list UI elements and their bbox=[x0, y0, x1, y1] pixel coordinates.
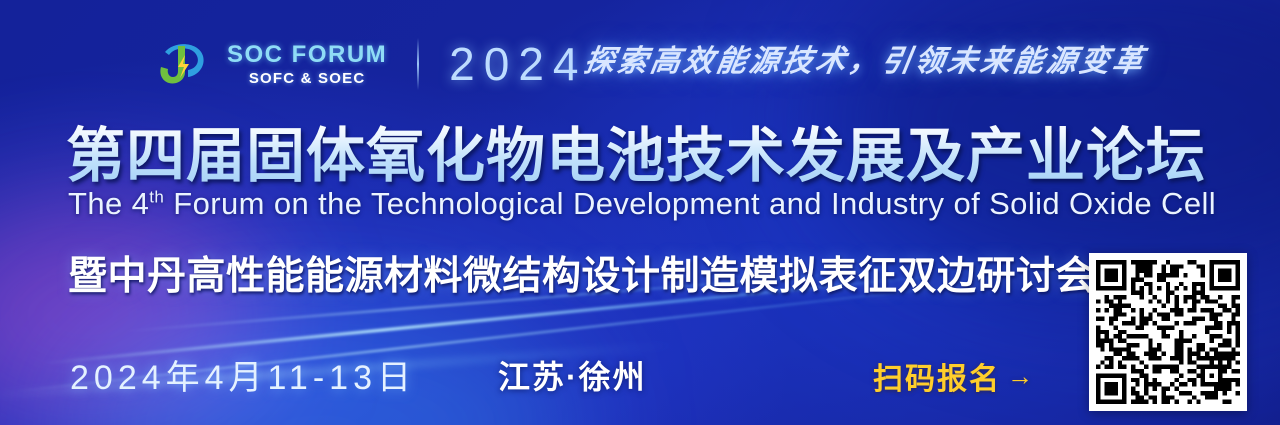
calligraphy-slogan: 探索高效能源技术，引领未来能源变革 bbox=[582, 36, 1150, 80]
scan-cta-label: 扫码报名 bbox=[873, 354, 1001, 398]
title-en-prefix: The 4 bbox=[68, 186, 149, 221]
brand-name-primary: SOC FORUM bbox=[227, 43, 387, 67]
qr-code-icon[interactable] bbox=[1089, 253, 1247, 411]
brand-name-secondary: SOFC & SOEC bbox=[227, 71, 387, 86]
edition-year: 2024 bbox=[449, 37, 587, 91]
arrow-right-icon: → bbox=[1007, 363, 1035, 389]
title-en-ordinal: th bbox=[149, 188, 164, 207]
title-en-rest: Forum on the Technological Development a… bbox=[164, 186, 1216, 221]
banner-header: SOC FORUM SOFC & SOEC 2024 bbox=[155, 36, 588, 92]
event-date: 2024年4月11-13日 bbox=[70, 350, 416, 399]
header-divider bbox=[417, 38, 419, 90]
brand-wordmark: SOC FORUM SOFC & SOEC bbox=[227, 43, 387, 86]
page-subtitle: 暨中丹高性能能源材料微结构设计制造模拟表征双边研讨会 bbox=[68, 245, 1095, 301]
soc-forum-logo-icon bbox=[155, 36, 211, 92]
page-title-english: The 4th Forum on the Technological Devel… bbox=[68, 186, 1216, 222]
scan-to-register-cta[interactable]: 扫码报名 → bbox=[873, 354, 1035, 398]
conference-banner: SOC FORUM SOFC & SOEC 2024 探索高效能源技术，引领未来… bbox=[0, 0, 1280, 425]
page-title: 第四届固体氧化物电池技术发展及产业论坛 bbox=[66, 108, 1206, 193]
event-location: 江苏·徐州 bbox=[498, 352, 647, 398]
